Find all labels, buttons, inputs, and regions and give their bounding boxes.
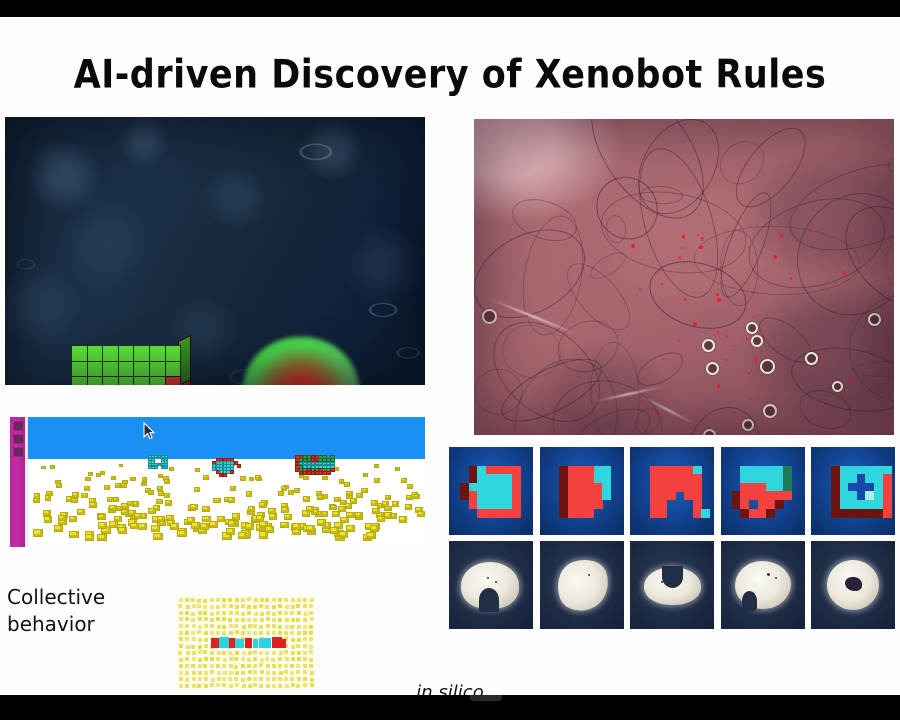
loose-voxel [151, 525, 160, 532]
particle-dot [179, 617, 183, 621]
panel-voxel-model-and-organoid[interactable] [5, 117, 425, 385]
particle-dot [278, 657, 282, 661]
particle-dot [297, 638, 301, 642]
particle-dot [278, 598, 282, 602]
loose-voxel [41, 466, 46, 470]
loose-voxel [417, 511, 425, 517]
particle-dot [284, 677, 288, 681]
particle-dot [192, 677, 196, 681]
particle-dot [198, 677, 202, 681]
xenobot-photo-cell[interactable] [630, 541, 714, 629]
loose-voxel [88, 472, 93, 476]
particle-dot [296, 604, 300, 608]
loose-voxel [281, 486, 287, 491]
loose-voxel [46, 491, 53, 496]
loose-voxel [158, 491, 165, 496]
particle-dot [185, 598, 189, 602]
particle-dot [210, 612, 214, 616]
loose-voxel [54, 525, 63, 532]
microscopy-vignette [474, 119, 894, 435]
loose-voxel [194, 487, 200, 492]
loose-voxel [148, 490, 155, 495]
particle-dot [191, 598, 195, 602]
letterbox-bar-top [0, 0, 900, 17]
particle-dot [198, 650, 202, 654]
particle-dot [304, 612, 308, 616]
organism-spot [670, 584, 672, 586]
particle-dot [229, 604, 233, 608]
loose-voxel [213, 498, 220, 504]
panel-voxel-physics-simulation[interactable] [5, 417, 425, 547]
particle-dot [234, 677, 238, 681]
loose-voxel [164, 479, 170, 483]
xenobot-photo-cell[interactable] [449, 541, 533, 629]
particle-dot [179, 677, 183, 681]
particle-dot [260, 612, 264, 616]
loose-voxel [200, 523, 209, 530]
results-grid[interactable] [449, 447, 900, 629]
particle-dot [203, 605, 207, 609]
particle-dot [309, 631, 313, 635]
particle-dot [191, 612, 195, 616]
particle-dot [241, 657, 245, 661]
particle-dot [247, 658, 251, 662]
particle-dot [279, 651, 283, 655]
design-cell[interactable] [630, 447, 714, 535]
particle-dot [216, 598, 220, 602]
particle-dot [203, 650, 207, 654]
loose-voxel [256, 515, 264, 522]
loose-voxel [121, 483, 127, 488]
loose-voxel [50, 465, 55, 469]
loose-voxel [130, 523, 139, 530]
particle-dot [192, 657, 196, 661]
loose-voxel [346, 491, 353, 496]
loose-voxel [384, 506, 392, 512]
xenobot-photo-cell[interactable] [540, 541, 624, 629]
design-pixel [602, 491, 611, 500]
particle-dot [179, 611, 183, 615]
particle-dot [303, 670, 307, 674]
particle-dot [266, 611, 270, 615]
loose-voxel [377, 516, 385, 523]
particle-dot [179, 644, 183, 648]
collective-behavior-grid[interactable] [175, 594, 315, 691]
particle-dot [229, 671, 233, 675]
loose-voxel [330, 505, 338, 511]
particle-dot [191, 618, 195, 622]
particle-dot [291, 598, 295, 602]
loose-voxel [165, 500, 172, 506]
loose-voxel [405, 504, 413, 510]
particle-dot [291, 645, 295, 649]
particle-dot [229, 664, 233, 668]
loose-voxel [156, 499, 163, 505]
organism-notch [479, 588, 499, 612]
particle-dot [210, 631, 214, 635]
loose-voxel [69, 516, 77, 523]
particle-dot [296, 644, 300, 648]
panel-vignette [5, 117, 425, 385]
particle-dot [203, 611, 207, 615]
loose-voxel [157, 486, 163, 491]
particle-dot [210, 651, 214, 655]
particle-dot [247, 664, 251, 668]
loose-voxel [107, 497, 114, 502]
particle-dot [284, 611, 288, 615]
particle-dot [260, 670, 264, 674]
organism-central-hole [845, 577, 862, 591]
particle-dot [222, 611, 226, 615]
particle-dot [235, 651, 239, 655]
particle-dot [192, 604, 196, 608]
particle-dot [247, 677, 251, 681]
particle-dot [259, 631, 263, 635]
particle-dot [185, 678, 189, 682]
particle-dot [185, 657, 189, 661]
loose-voxel [138, 523, 147, 530]
design-pixel [775, 500, 784, 509]
particle-dot [272, 624, 276, 628]
particle-dot [296, 618, 300, 622]
particle-dot [309, 604, 313, 608]
particle-dot [260, 658, 264, 662]
particle-dot [204, 671, 208, 675]
particle-dot [265, 657, 269, 661]
loose-voxel [345, 503, 352, 509]
loose-voxel [84, 486, 90, 491]
particle-dot [210, 598, 214, 602]
particle-dot [285, 657, 289, 661]
letterbox-bar-bottom [0, 695, 900, 720]
particle-dot [211, 678, 215, 682]
particle-dot [203, 599, 207, 603]
loose-voxel [77, 509, 85, 515]
particle-dot [210, 664, 214, 668]
particle-dot [198, 611, 202, 615]
loose-voxel [303, 496, 310, 501]
particle-dot [278, 611, 282, 615]
particle-dot [222, 604, 226, 608]
loose-voxel [363, 473, 368, 477]
particle-dot [210, 670, 214, 674]
particle-dot [186, 605, 190, 609]
particle-dot [185, 611, 189, 615]
loose-voxel [259, 502, 266, 508]
particle-dot [234, 657, 238, 661]
particle-dot [254, 612, 258, 616]
particle-dot [297, 677, 301, 681]
loose-voxel [119, 464, 124, 468]
loose-voxel [356, 493, 363, 498]
particle-dot [191, 664, 195, 668]
particle-dot [192, 651, 196, 655]
loose-voxel [281, 507, 289, 513]
loose-voxel [130, 477, 136, 481]
loose-voxel [81, 493, 88, 498]
loose-voxel [232, 513, 240, 519]
particle-dot [222, 631, 226, 635]
loose-voxel [127, 501, 134, 507]
particle-dot [228, 618, 232, 622]
particle-dot [278, 677, 282, 681]
loose-voxel [372, 508, 380, 514]
particle-dot [241, 612, 245, 616]
particle-dot [303, 598, 307, 602]
toolbar-icon-camera[interactable] [13, 434, 24, 444]
particle-dot [185, 671, 189, 675]
particle-dot [191, 645, 195, 649]
loose-voxel [249, 477, 255, 481]
particle-dot [285, 605, 289, 609]
loose-voxel [98, 514, 106, 520]
loose-voxel [339, 531, 348, 538]
particle-dot [242, 625, 246, 629]
particle-dot [310, 671, 314, 675]
loose-voxel [44, 516, 52, 523]
particle-dot [179, 598, 183, 602]
design-pixel [512, 509, 521, 518]
particle-dot [248, 670, 252, 674]
loose-voxel [33, 498, 40, 504]
slide-canvas: AI-driven Discovery of Xenobot Rules [0, 17, 900, 695]
xenobot-photo-cell[interactable] [811, 541, 895, 629]
particle-dot [259, 651, 263, 655]
particle-dot [198, 617, 202, 621]
particle-dot [179, 624, 183, 628]
particle-dot [272, 612, 276, 616]
loose-voxel [191, 522, 200, 529]
particle-dot [254, 598, 258, 602]
particle-dot [303, 664, 307, 668]
particle-dot [204, 631, 208, 635]
particle-dot [297, 631, 301, 635]
particle-dot [185, 624, 189, 628]
particle-dot [291, 618, 295, 622]
particle-dot [310, 598, 314, 602]
collective-agent-cyan [235, 639, 244, 648]
particle-dot [297, 598, 301, 602]
panel-microscopy-debris-trails[interactable] [474, 119, 894, 435]
particle-dot [198, 638, 202, 642]
particle-dot [284, 670, 288, 674]
particle-dot [241, 598, 245, 602]
loose-voxel [190, 504, 198, 510]
particle-dot [290, 625, 294, 629]
particle-dot [272, 651, 276, 655]
loose-voxel [71, 498, 78, 504]
particle-dot [241, 664, 245, 668]
loose-voxel [111, 476, 117, 480]
particle-dot [234, 624, 238, 628]
particle-dot [284, 598, 288, 602]
particle-dot [310, 617, 314, 621]
particle-dot [179, 658, 183, 662]
particle-dot [185, 617, 189, 621]
particle-dot [309, 625, 313, 629]
design-pixel [701, 509, 710, 518]
particle-dot [253, 677, 257, 681]
loose-voxel [104, 485, 110, 490]
particle-dot [197, 604, 201, 608]
particle-dot [216, 617, 220, 621]
loose-voxel [72, 492, 79, 497]
loose-voxel [166, 515, 174, 521]
particle-dot [241, 604, 245, 608]
loose-voxel [288, 490, 295, 495]
particle-dot [285, 618, 289, 622]
loose-voxel [118, 527, 127, 534]
particle-dot [291, 605, 295, 609]
organism-notch [742, 591, 757, 611]
particle-dot [241, 671, 245, 675]
loose-voxel [177, 530, 186, 537]
loose-voxel [85, 534, 95, 542]
loose-voxel [203, 475, 208, 479]
loose-voxel [355, 512, 363, 518]
loose-voxel [284, 514, 292, 520]
simulator-toolbar[interactable] [10, 417, 25, 547]
particle-dot [303, 644, 307, 648]
particle-dot [178, 651, 182, 655]
loose-voxel [392, 501, 399, 507]
design-cell[interactable] [811, 447, 895, 535]
particle-dot [192, 671, 196, 675]
design-cell[interactable] [540, 447, 624, 535]
particle-dot [216, 664, 220, 668]
loose-voxel [230, 486, 236, 491]
loose-voxel [89, 502, 96, 508]
xenobot-organism [550, 553, 615, 617]
loose-voxel [374, 478, 380, 482]
particle-dot [284, 664, 288, 668]
page-title: AI-driven Discovery of Xenobot Rules [0, 53, 900, 98]
loose-voxel [134, 513, 142, 519]
simulated-xenobot-voxel [326, 471, 331, 475]
design-pixel [594, 500, 603, 509]
particle-dot [297, 625, 301, 629]
design-cell[interactable] [449, 447, 533, 535]
particle-dot [223, 658, 227, 662]
loose-voxel [366, 532, 376, 539]
loose-voxel [164, 493, 171, 498]
particle-dot [247, 605, 251, 609]
loose-voxel [148, 508, 156, 514]
loose-voxel [407, 484, 413, 489]
particle-dot [204, 617, 208, 621]
organism-spot [767, 573, 770, 576]
particle-dot [253, 664, 257, 668]
particle-dot [198, 671, 202, 675]
particle-dot [185, 631, 189, 635]
particle-dot [297, 657, 301, 661]
xenobot-photo-cell[interactable] [721, 541, 805, 629]
particle-dot [303, 618, 307, 622]
particle-dot [204, 624, 208, 628]
particle-dot [198, 664, 202, 668]
particle-dot [253, 618, 257, 622]
loose-voxel [202, 516, 210, 523]
toolbar-divider [25, 417, 28, 547]
loose-voxel [45, 495, 52, 500]
particle-dot [290, 664, 294, 668]
toolbar-icon-settings[interactable] [13, 447, 24, 457]
particle-dot [229, 631, 233, 635]
design-pixel [667, 491, 676, 500]
particle-dot [309, 611, 313, 615]
loose-voxel [33, 529, 42, 536]
loose-voxel [56, 483, 62, 488]
design-pixel [658, 509, 667, 518]
particle-dot [222, 617, 226, 621]
particle-dot [217, 651, 221, 655]
collective-agent-red [245, 638, 252, 648]
particle-dot [197, 599, 201, 603]
particle-dot [278, 625, 282, 629]
loose-voxel [69, 531, 78, 538]
collective-behavior-label: Collective behavior [7, 584, 177, 638]
particle-dot [216, 631, 220, 635]
toolbar-icon-pointer[interactable] [13, 421, 24, 431]
loose-voxel [344, 482, 350, 487]
particle-dot [229, 611, 233, 615]
particle-dot [216, 657, 220, 661]
simulated-xenobot-voxel [230, 470, 234, 474]
particle-dot [179, 631, 183, 635]
loose-voxel [339, 479, 345, 483]
particle-dot [266, 664, 270, 668]
particle-dot [303, 637, 307, 641]
particle-dot [235, 611, 239, 615]
particle-dot [204, 677, 208, 681]
particle-dot [241, 618, 245, 622]
particle-dot [253, 657, 257, 661]
particle-dot [247, 597, 251, 601]
particle-dot [235, 605, 239, 609]
design-cell[interactable] [721, 447, 805, 535]
particle-dot [198, 645, 202, 649]
loose-voxel [238, 532, 248, 539]
particle-dot [229, 624, 233, 628]
particle-dot [291, 657, 295, 661]
particle-dot [296, 664, 300, 668]
particle-dot [241, 678, 245, 682]
particle-dot [235, 598, 239, 602]
loose-voxel [248, 506, 256, 512]
particle-dot [265, 651, 269, 655]
loose-voxel [153, 533, 163, 540]
particle-dot [198, 658, 202, 662]
simulated-xenobot-voxel [223, 473, 227, 477]
loose-voxel [202, 506, 210, 512]
loose-voxel [317, 495, 324, 500]
simulated-xenobot-voxel [164, 466, 168, 469]
loose-voxel [109, 521, 118, 528]
particle-dot [291, 651, 295, 655]
particle-dot [259, 677, 263, 681]
particle-dot [253, 670, 257, 674]
particle-dot [309, 645, 313, 649]
loose-voxel [157, 516, 165, 523]
particle-dot [265, 598, 269, 602]
particle-dot [266, 617, 270, 621]
particle-dot [278, 618, 282, 622]
loose-voxel [385, 495, 392, 500]
particle-dot [210, 605, 214, 609]
particle-dot [303, 651, 307, 655]
particle-dot [248, 651, 252, 655]
particle-dot [247, 611, 251, 615]
